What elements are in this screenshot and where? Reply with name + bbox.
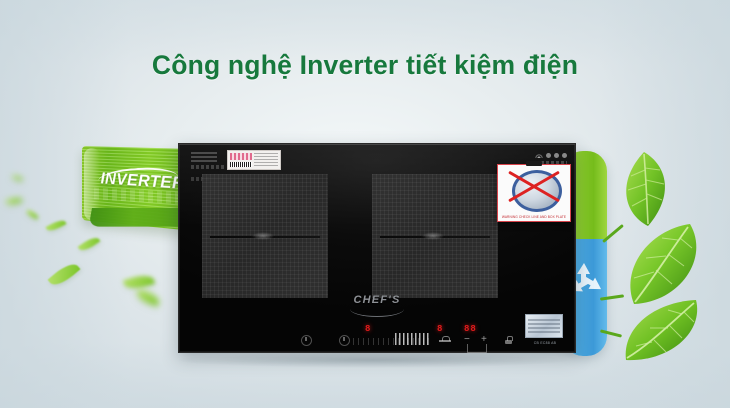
induction-cooktop: WARNING CHECK LINE AND BOX PLATE CHEF'S … (178, 143, 576, 353)
feature-icons (535, 152, 567, 158)
lock-icon[interactable] (505, 336, 512, 344)
sticker-stripe (230, 153, 252, 160)
pan-boost-icon[interactable] (439, 336, 451, 345)
rating-plate (525, 314, 563, 338)
floating-leaf (26, 209, 40, 219)
promo-banner: Công nghệ Inverter tiết kiệm điện INVERT… (0, 0, 730, 408)
brand-swoosh-icon (350, 309, 404, 317)
right-cooking-zone (372, 174, 498, 298)
timer-display: 88 (464, 324, 477, 334)
cooktop-shadow (172, 352, 574, 368)
energy-label-sticker (227, 150, 281, 170)
brand-logo: CHEF'S (179, 294, 575, 306)
dot-icon (554, 153, 559, 158)
leaf (612, 296, 704, 370)
wifi-icon (535, 152, 543, 158)
left-power-button[interactable] (301, 335, 312, 346)
rating-plate-caption: CB EC88 AB (527, 341, 563, 345)
warning-sticker: WARNING CHECK LINE AND BOX PLATE (497, 164, 571, 222)
floating-leaf (135, 289, 161, 307)
sticker-tab (526, 161, 542, 166)
right-power-button[interactable] (339, 335, 350, 346)
barcode-icon (230, 162, 252, 167)
floating-leaf (46, 218, 67, 234)
control-panel[interactable]: 8 8 88 − + (301, 324, 521, 352)
manufacturer-subtext (191, 165, 225, 169)
timer-minus-button[interactable]: − (464, 336, 470, 344)
dot-icon (546, 153, 551, 158)
floating-leaf (5, 196, 22, 207)
left-power-display: 8 (365, 324, 371, 334)
zone-center-mark (252, 232, 274, 240)
manufacturer-logo (191, 152, 217, 163)
page-title: Công nghệ Inverter tiết kiệm điện (0, 50, 730, 81)
sticker-lines (254, 153, 278, 166)
floating-leaf (12, 175, 24, 181)
zone-center-mark (422, 232, 444, 240)
left-cooking-zone (202, 174, 328, 298)
warning-text: WARNING CHECK LINE AND BOX PLATE (498, 215, 570, 219)
timer-icon[interactable] (467, 344, 487, 353)
floating-leaf (48, 259, 81, 290)
timer-plus-button[interactable]: + (481, 336, 487, 344)
right-power-display: 8 (437, 324, 443, 334)
power-slider-fill[interactable] (395, 333, 429, 345)
dot-icon (562, 153, 567, 158)
